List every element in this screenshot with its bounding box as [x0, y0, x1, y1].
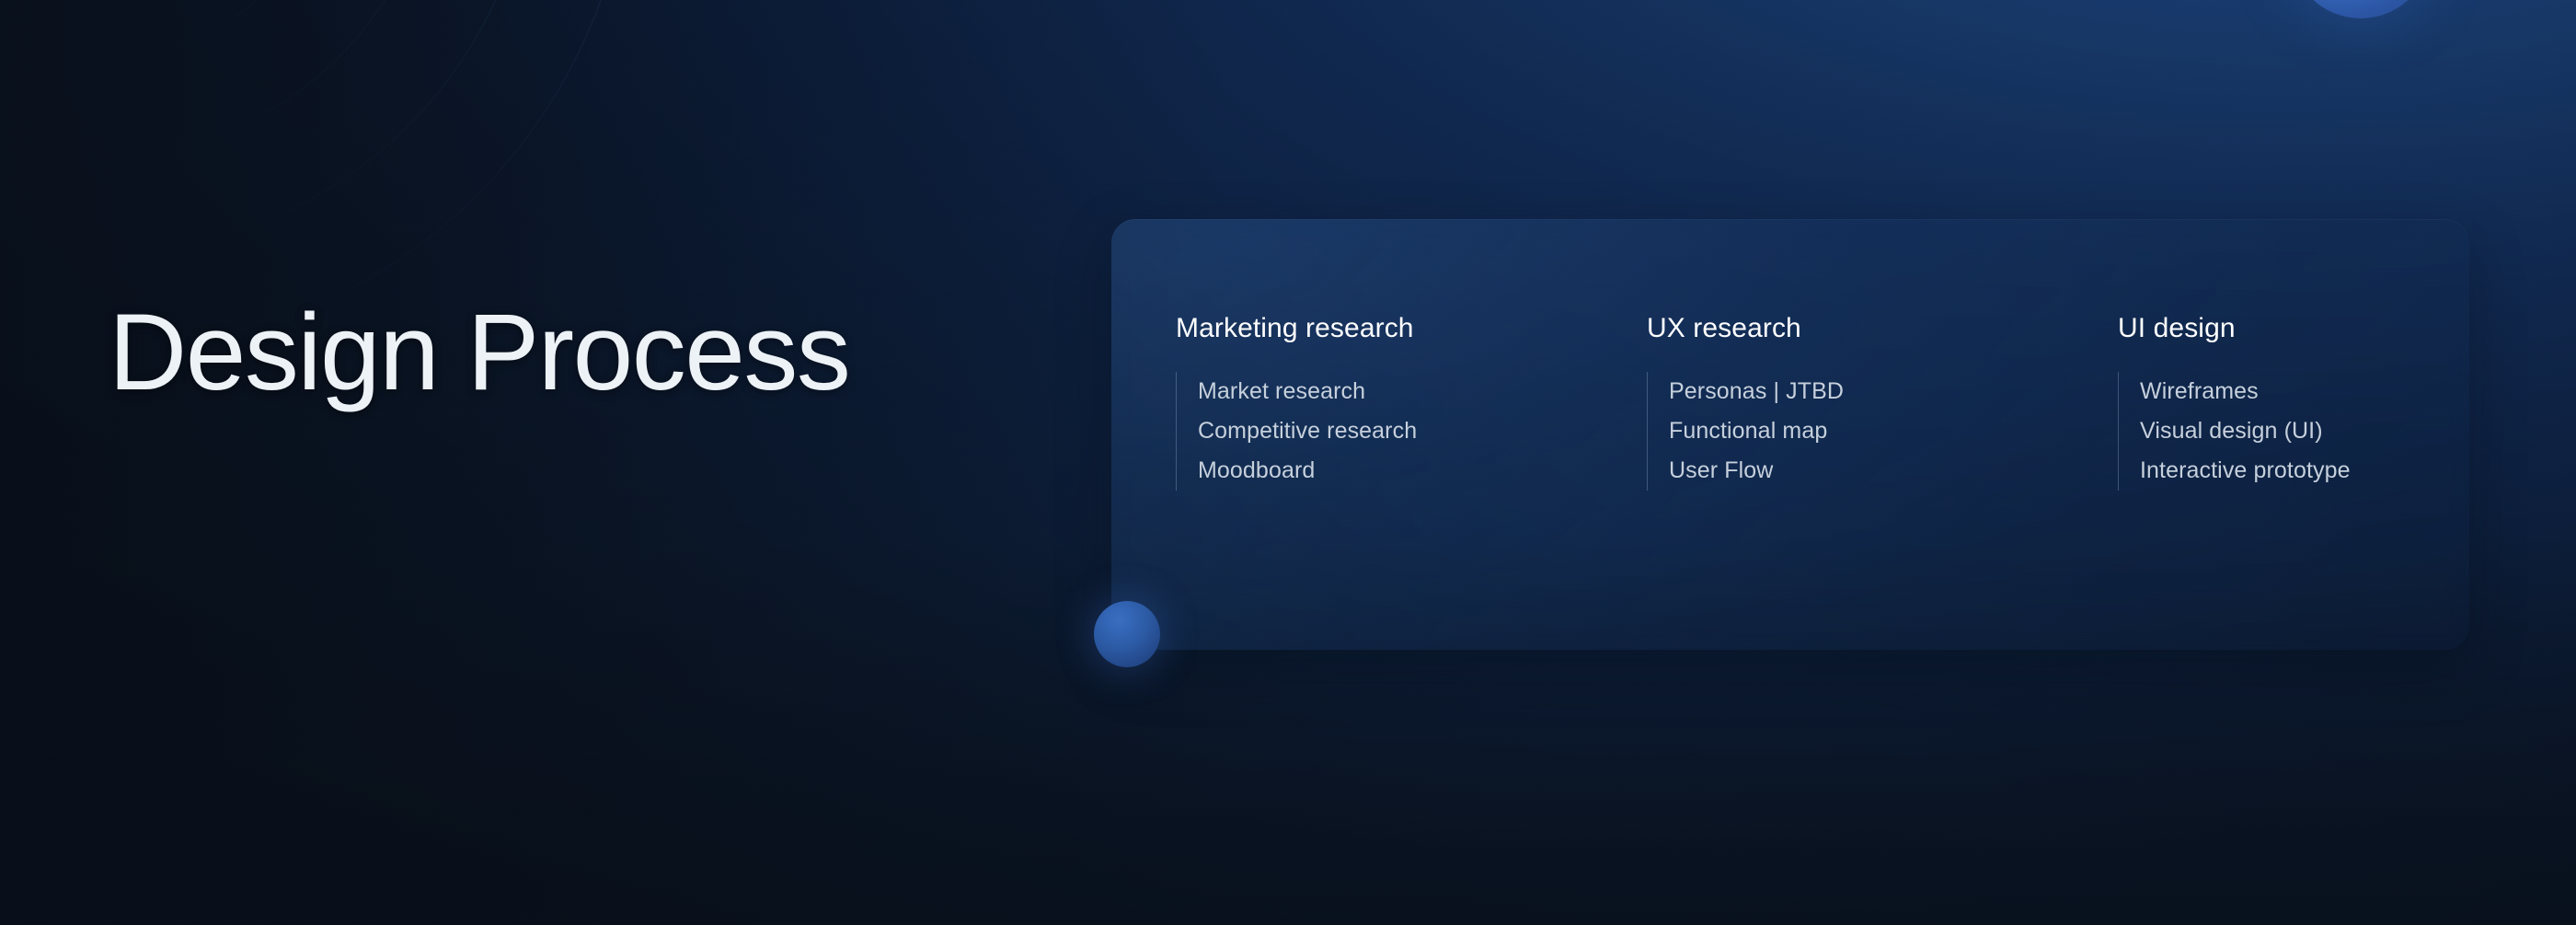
process-columns: Marketing research Market research Compe…	[1176, 315, 2351, 491]
list-item: Personas | JTBD	[1669, 372, 2118, 411]
page-title: Design Process	[109, 296, 849, 410]
column-heading: UI design	[2118, 315, 2351, 342]
list-item: User Flow	[1669, 451, 2118, 491]
process-column-marketing-research: Marketing research Market research Compe…	[1176, 315, 1647, 491]
process-column-ux-research: UX research Personas | JTBD Functional m…	[1647, 315, 2118, 491]
decorative-sphere-card-corner	[1094, 601, 1160, 667]
process-column-ui-design: UI design Wireframes Visual design (UI) …	[2118, 315, 2351, 491]
list-item: Wireframes	[2140, 372, 2351, 411]
list-item: Visual design (UI)	[2140, 411, 2351, 451]
list-item: Functional map	[1669, 411, 2118, 451]
column-heading: Marketing research	[1176, 315, 1647, 342]
process-card: Marketing research Market research Compe…	[1111, 219, 2469, 650]
column-item-list: Market research Competitive research Moo…	[1176, 372, 1647, 491]
list-item: Moodboard	[1198, 451, 1647, 491]
list-item: Interactive prototype	[2140, 451, 2351, 491]
slide-canvas: Design Process Marketing research Market…	[0, 0, 2576, 925]
column-item-list: Personas | JTBD Functional map User Flow	[1647, 372, 2118, 491]
column-heading: UX research	[1647, 315, 2118, 342]
list-item: Competitive research	[1198, 411, 1647, 451]
column-item-list: Wireframes Visual design (UI) Interactiv…	[2118, 372, 2351, 491]
list-item: Market research	[1198, 372, 1647, 411]
